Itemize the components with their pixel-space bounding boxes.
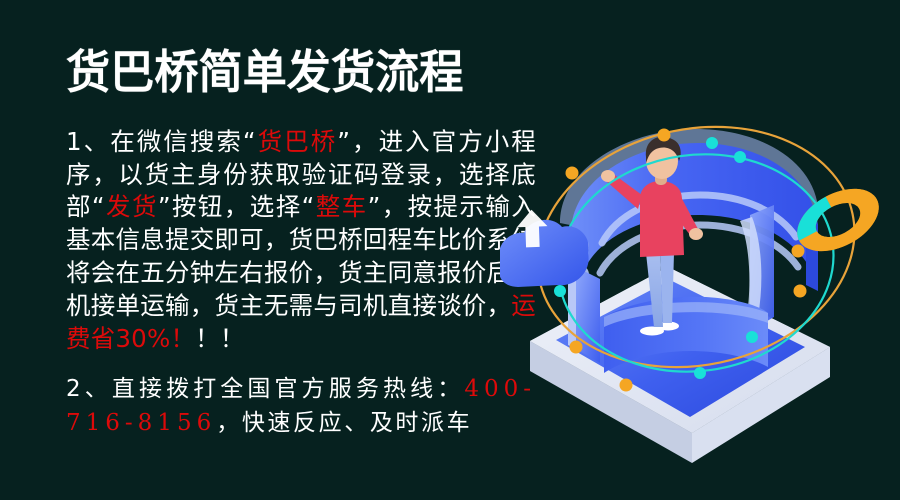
quote-close-1: ” xyxy=(337,127,350,156)
orbit-dot-orange-6 xyxy=(620,379,633,392)
orbit-dot-cyan-2 xyxy=(734,151,746,163)
quote-close-2: ” xyxy=(158,192,171,221)
orbit-dot-cyan-5 xyxy=(746,331,758,343)
orbit-dot-cyan-4 xyxy=(554,285,566,297)
illustration-svg xyxy=(500,95,900,500)
body-copy: 1、在微信搜索“货巴桥”，进入官方小程序，以货主身份获取验证码登录，选择底部“发… xyxy=(66,126,546,440)
step-2-paragraph: 2、直接拨打全国官方服务热线：400-716-8156，快速反应、及时派车 xyxy=(66,373,536,440)
orbit-dot-orange-1 xyxy=(566,167,579,180)
step-2-lead-text: 直接拨打全国官方服务热线： xyxy=(112,376,464,402)
page-title: 货巴桥简单发货流程 xyxy=(66,48,527,98)
quote-open-1: “ xyxy=(243,127,256,156)
step-1-text-a: 在微信搜索 xyxy=(110,127,243,156)
quote-open-2: “ xyxy=(92,192,105,221)
step-1-paragraph: 1、在微信搜索“货巴桥”，进入官方小程序，以货主身份获取验证码登录，选择底部“发… xyxy=(66,126,536,356)
person-shirt xyxy=(640,181,684,257)
quote-close-3: ” xyxy=(368,192,381,221)
isometric-illustration xyxy=(500,95,900,500)
orbit-dot-orange-4 xyxy=(794,285,807,298)
orbit-dot-orange-3 xyxy=(792,245,805,258)
step-2-block: 2、直接拨打全国官方服务热线：400-716-8156，快速反应、及时派车 xyxy=(66,373,536,440)
step-2-tail-text: ，快速反应、及时派车 xyxy=(216,410,472,436)
orbit-dot-orange-2 xyxy=(658,129,671,142)
orbit-dot-cyan-6 xyxy=(694,367,706,379)
quote-open-3: “ xyxy=(302,192,315,221)
highlight-brand-name: 货巴桥 xyxy=(256,127,337,156)
step-1-exclamations: ！！ xyxy=(195,324,244,353)
orbit-dot-orange-5 xyxy=(570,341,583,354)
orbit-dot-cyan-1 xyxy=(706,137,718,149)
step-1-text-c: 按钮，选择 xyxy=(171,192,302,221)
person-right-hand xyxy=(689,228,703,240)
highlight-full-truck: 整车 xyxy=(315,192,368,221)
text-column: 货巴桥简单发货流程 1、在微信搜索“货巴桥”，进入官方小程序，以货主身份获取验证… xyxy=(66,48,546,440)
step-1-number: 1、 xyxy=(66,127,110,156)
step-2-number: 2、 xyxy=(66,376,112,402)
highlight-ship-button: 发货 xyxy=(105,192,158,221)
poster-canvas: 货巴桥简单发货流程 1、在微信搜索“货巴桥”，进入官方小程序，以货主身份获取验证… xyxy=(0,0,900,500)
